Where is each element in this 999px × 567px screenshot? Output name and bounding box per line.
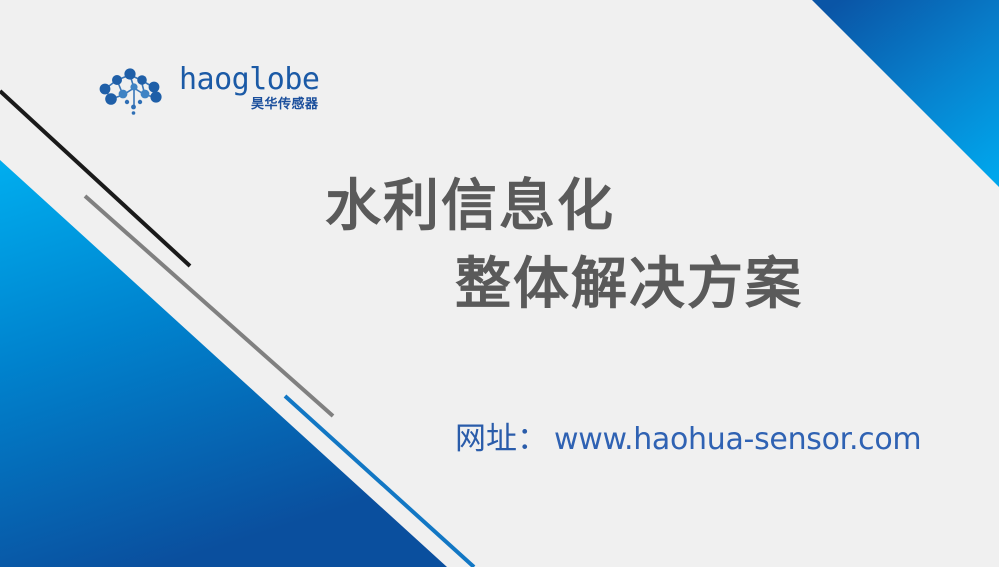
haoglobe-network-dots-icon — [97, 63, 171, 115]
website-url[interactable]: www.haohua-sensor.com — [554, 420, 921, 460]
title-line-1: 水利信息化 — [0, 168, 999, 246]
logo-wordmark: haoglobe — [179, 65, 320, 95]
logo-text-group: haoglobe 昊华传感器 — [179, 65, 320, 113]
company-logo[interactable]: haoglobe 昊华传感器 — [97, 58, 317, 120]
slide-canvas: haoglobe 昊华传感器 水利信息化 整体解决方案 网址： www.haoh… — [0, 0, 999, 567]
logo-chinese-subtext: 昊华传感器 — [251, 97, 319, 113]
website-line: 网址： www.haohua-sensor.com — [455, 419, 921, 460]
title-line-2: 整体解决方案 — [0, 246, 999, 324]
page-title: 水利信息化 整体解决方案 — [0, 168, 999, 324]
website-label: 网址： — [455, 419, 548, 459]
